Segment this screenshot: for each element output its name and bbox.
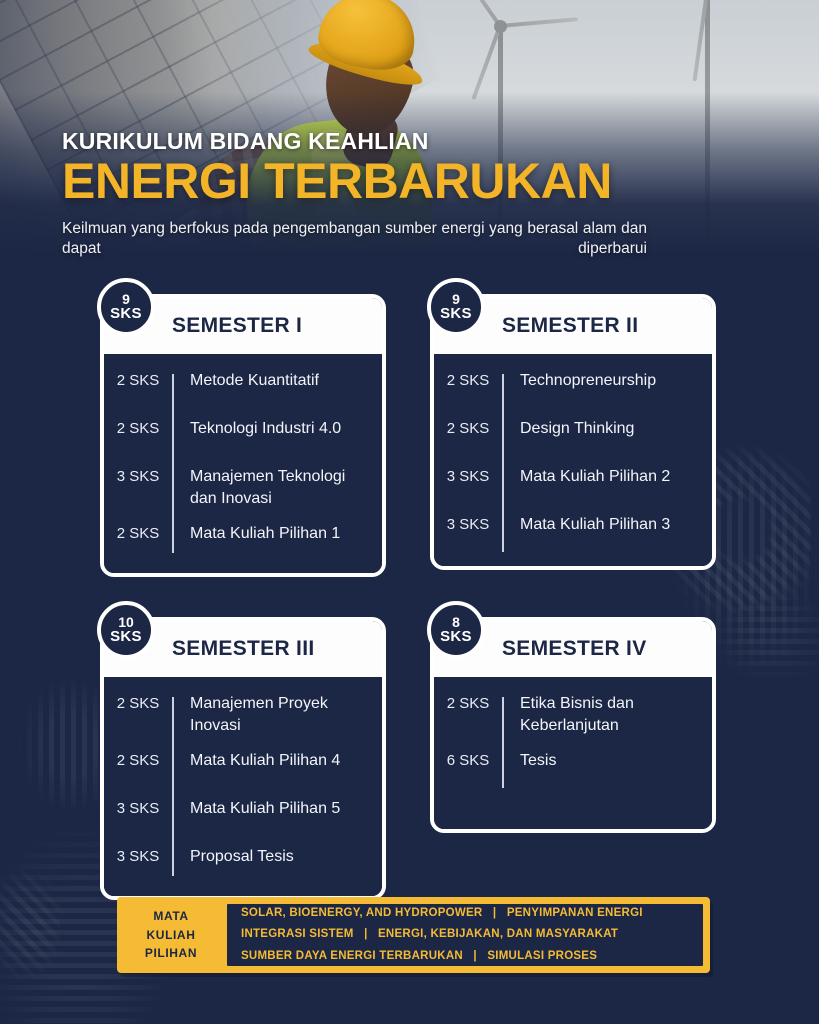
course-credits: 3 SKS (434, 514, 502, 535)
elective-item: ENERGI, KEBIJAKAN, DAN MASYARAKAT (378, 928, 618, 940)
course-row: 2 SKS Metode Kuantitatif (104, 370, 372, 404)
semester-title: SEMESTER IV (502, 637, 647, 661)
elective-courses-footer: MATA KULIAH PILIHAN SOLAR, BIOENERGY, AN… (117, 897, 710, 973)
semester-title: SEMESTER III (172, 637, 314, 661)
semester-card-body: 2 SKS Manajemen Proyek Inovasi 2 SKS Mat… (104, 677, 382, 896)
column-divider (172, 374, 174, 553)
semester-card-body: 2 SKS Technopreneurship 2 SKS Design Thi… (434, 354, 712, 566)
course-credits: 3 SKS (104, 846, 172, 867)
course-name: Teknologi Industri 4.0 (172, 418, 372, 440)
course-credits: 3 SKS (104, 466, 172, 487)
course-name: Mata Kuliah Pilihan 2 (502, 466, 702, 488)
sks-badge: 10 SKS (97, 601, 155, 659)
course-credits: 3 SKS (434, 466, 502, 487)
course-name: Manajemen Teknologi dan Inovasi (172, 466, 372, 509)
sks-badge-unit: SKS (110, 629, 142, 646)
course-list: 2 SKS Manajemen Proyek Inovasi 2 SKS Mat… (104, 693, 372, 880)
sks-badge-number: 9 (452, 292, 460, 306)
course-row: 6 SKS Tesis (434, 750, 702, 784)
course-row: 2 SKS Design Thinking (434, 418, 702, 452)
semester-card-body: 2 SKS Etika Bisnis dan Keberlanjutan 6 S… (434, 677, 712, 829)
course-name: Proposal Tesis (172, 846, 372, 868)
sks-badge-unit: SKS (110, 306, 142, 323)
course-credits: 6 SKS (434, 750, 502, 771)
course-list: 2 SKS Etika Bisnis dan Keberlanjutan 6 S… (434, 693, 702, 784)
course-row: 3 SKS Mata Kuliah Pilihan 2 (434, 466, 702, 500)
course-row: 2 SKS Teknologi Industri 4.0 (104, 418, 372, 452)
semester-card-3[interactable]: SEMESTER III 2 SKS Manajemen Proyek Inov… (100, 617, 386, 900)
elective-item: INTEGRASI SISTEM (241, 928, 354, 940)
course-credits: 2 SKS (104, 418, 172, 439)
column-divider (502, 374, 504, 552)
elective-list: SOLAR, BIOENERGY, AND HYDROPOWER | PENYI… (225, 902, 705, 968)
course-credits: 2 SKS (434, 370, 502, 391)
course-name: Mata Kuliah Pilihan 3 (502, 514, 702, 536)
sks-badge-number: 10 (118, 615, 134, 629)
course-name: Mata Kuliah Pilihan 4 (172, 750, 372, 772)
course-name: Technopreneurship (502, 370, 702, 392)
hero-banner: KURIKULUM BIDANG KEAHLIAN ENERGI TERBARU… (0, 0, 819, 270)
semester-card-4[interactable]: SEMESTER IV 2 SKS Etika Bisnis dan Keber… (430, 617, 716, 833)
course-row: 2 SKS Manajemen Proyek Inovasi (104, 693, 372, 736)
column-divider (172, 697, 174, 876)
elective-item: PENYIMPANAN ENERGI (507, 907, 643, 919)
course-name: Mata Kuliah Pilihan 1 (172, 523, 372, 545)
semester-grid: SEMESTER I 2 SKS Metode Kuantitatif 2 SK… (0, 270, 819, 900)
footer-label-line-3: PILIHAN (145, 944, 197, 963)
course-row: 3 SKS Mata Kuliah Pilihan 5 (104, 798, 372, 832)
course-name: Etika Bisnis dan Keberlanjutan (502, 693, 702, 736)
elective-item: SIMULASI PROSES (487, 950, 597, 962)
semester-title: SEMESTER II (502, 314, 638, 338)
footer-label-line-2: KULIAH (147, 926, 196, 945)
course-credits: 2 SKS (434, 418, 502, 439)
course-name: Tesis (502, 750, 702, 772)
elective-separator: | (466, 950, 483, 962)
course-list: 2 SKS Technopreneurship 2 SKS Design Thi… (434, 370, 702, 548)
footer-label-line-1: MATA (153, 907, 188, 926)
course-credits: 2 SKS (104, 523, 172, 544)
hero-text-block: KURIKULUM BIDANG KEAHLIAN ENERGI TERBARU… (62, 128, 662, 270)
sks-badge-unit: SKS (440, 306, 472, 323)
course-name: Metode Kuantitatif (172, 370, 372, 392)
sks-badge: 9 SKS (97, 278, 155, 336)
course-list: 2 SKS Metode Kuantitatif 2 SKS Teknologi… (104, 370, 372, 557)
course-row: 2 SKS Technopreneurship (434, 370, 702, 404)
course-row: 3 SKS Mata Kuliah Pilihan 3 (434, 514, 702, 548)
course-credits: 3 SKS (104, 798, 172, 819)
sks-badge-number: 8 (452, 615, 460, 629)
course-name: Manajemen Proyek Inovasi (172, 693, 372, 736)
column-divider (502, 697, 504, 788)
sks-badge-number: 9 (122, 292, 130, 306)
hero-kicker: KURIKULUM BIDANG KEAHLIAN (62, 128, 662, 155)
poster-root: KURIKULUM BIDANG KEAHLIAN ENERGI TERBARU… (0, 0, 819, 1024)
page-title: ENERGI TERBARUKAN (62, 157, 662, 205)
course-credits: 2 SKS (434, 693, 502, 714)
semester-card-body: 2 SKS Metode Kuantitatif 2 SKS Teknologi… (104, 354, 382, 573)
semester-card-1[interactable]: SEMESTER I 2 SKS Metode Kuantitatif 2 SK… (100, 294, 386, 577)
course-name: Mata Kuliah Pilihan 5 (172, 798, 372, 820)
sks-badge-unit: SKS (440, 629, 472, 646)
sks-badge: 9 SKS (427, 278, 485, 336)
course-row: 3 SKS Proposal Tesis (104, 846, 372, 880)
semester-card-2[interactable]: SEMESTER II 2 SKS Technopreneurship 2 SK… (430, 294, 716, 570)
course-row: 3 SKS Manajemen Teknologi dan Inovasi (104, 466, 372, 509)
course-credits: 2 SKS (104, 750, 172, 771)
elective-separator: | (486, 907, 503, 919)
semester-title: SEMESTER I (172, 314, 302, 338)
elective-item: SUMBER DAYA ENERGI TERBARUKAN (241, 950, 463, 962)
course-name: Design Thinking (502, 418, 702, 440)
footer-label: MATA KULIAH PILIHAN (117, 897, 225, 973)
elective-separator: | (357, 928, 374, 940)
sks-badge: 8 SKS (427, 601, 485, 659)
elective-line: SUMBER DAYA ENERGI TERBARUKAN | SIMULASI… (241, 946, 703, 967)
course-credits: 2 SKS (104, 370, 172, 391)
course-row: 2 SKS Mata Kuliah Pilihan 1 (104, 523, 372, 557)
elective-item: SOLAR, BIOENERGY, AND HYDROPOWER (241, 907, 482, 919)
course-credits: 2 SKS (104, 693, 172, 714)
elective-line: INTEGRASI SISTEM | ENERGI, KEBIJAKAN, DA… (241, 924, 703, 945)
course-row: 2 SKS Etika Bisnis dan Keberlanjutan (434, 693, 702, 736)
hero-subtitle: Keilmuan yang berfokus pada pengembangan… (62, 219, 647, 270)
elective-line: SOLAR, BIOENERGY, AND HYDROPOWER | PENYI… (241, 903, 703, 924)
course-row: 2 SKS Mata Kuliah Pilihan 4 (104, 750, 372, 784)
